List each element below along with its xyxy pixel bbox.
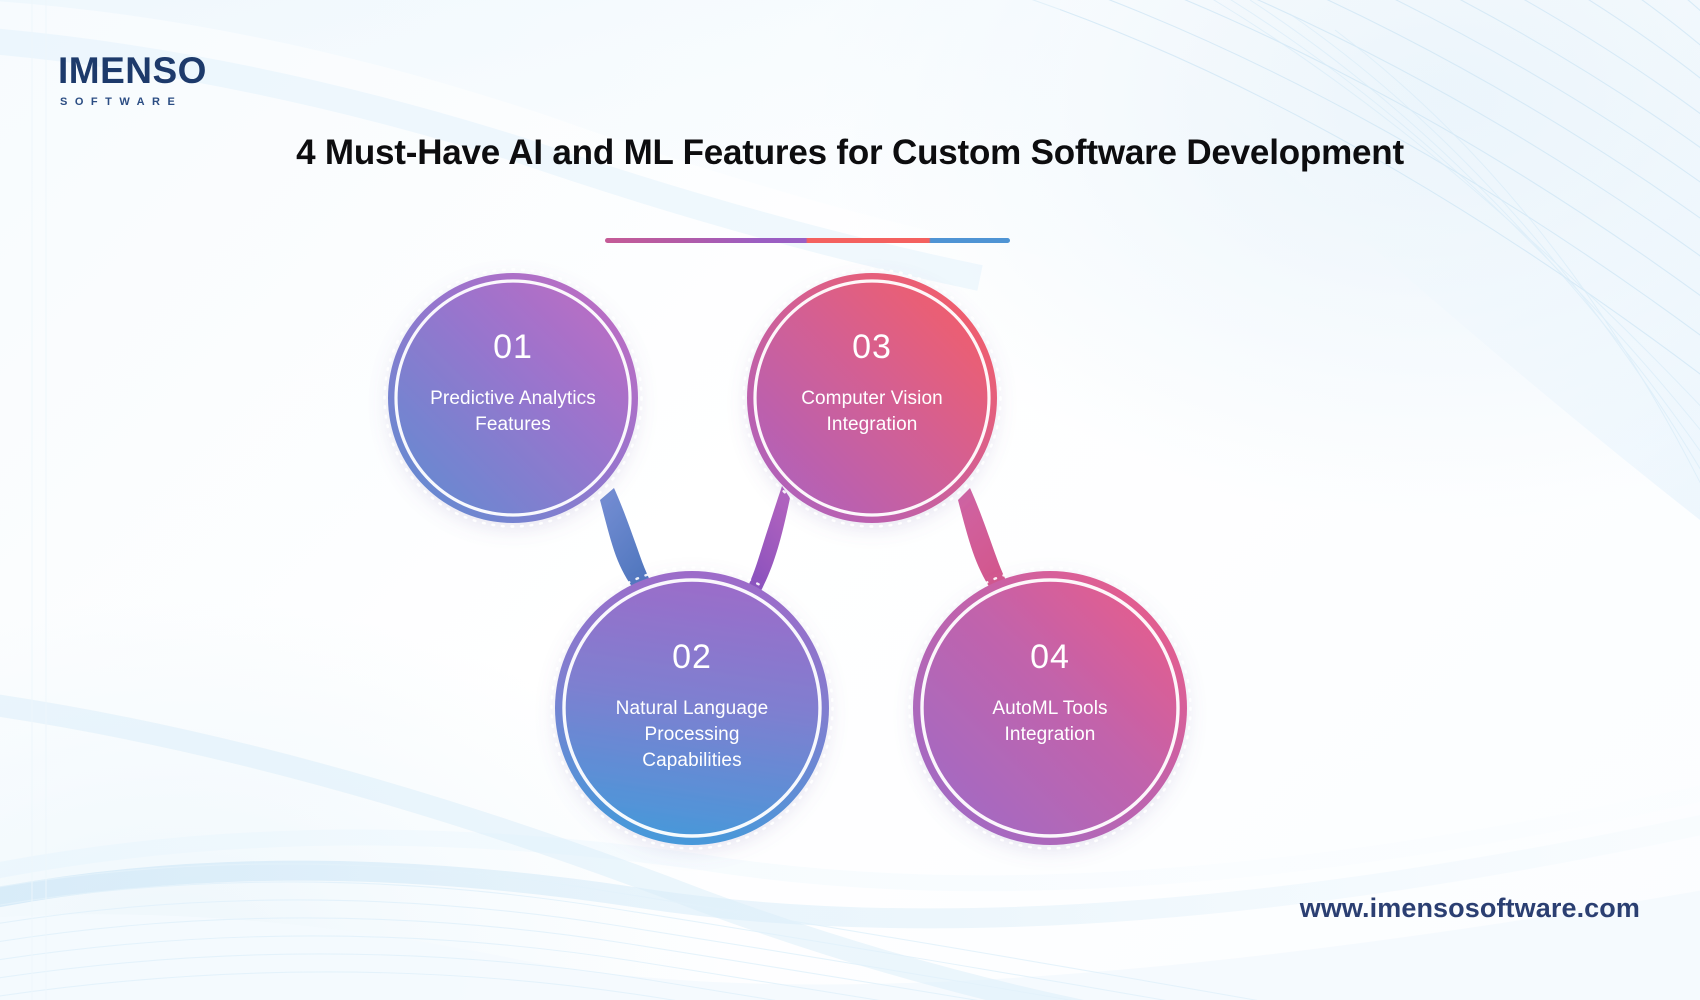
circle-cluster-diagram: [0, 0, 1700, 1000]
node-04-disc: [913, 571, 1187, 845]
node-03-disc: [747, 273, 997, 523]
infographic-canvas: IMENSO SOFTWARE 4 Must-Have AI and ML Fe…: [0, 0, 1700, 1000]
node-04[interactable]: [910, 568, 1191, 849]
node-01[interactable]: [385, 270, 642, 527]
node-02[interactable]: [552, 568, 833, 849]
website-url[interactable]: www.imensosoftware.com: [1300, 893, 1640, 924]
node-02-disc: [555, 571, 829, 845]
node-01-disc: [388, 273, 638, 523]
